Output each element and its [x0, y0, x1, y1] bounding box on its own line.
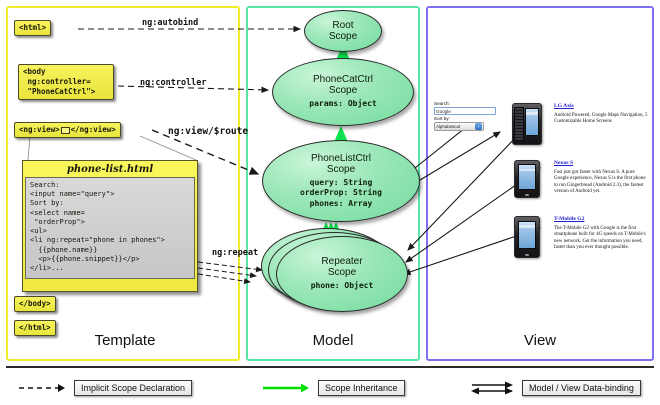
edge-label-autobind: ng:autobind: [142, 18, 198, 28]
edge-label-controller: ng:controller: [140, 78, 207, 88]
search-widget: Search: Google Sort by: Alphabetical ↕: [434, 101, 500, 131]
phone-name-link[interactable]: T-Mobile G2: [554, 216, 650, 223]
phone-list-note: phone-list.html Search: <input name="que…: [22, 160, 198, 292]
list-item: LG Axis Android Powered, Google Maps Nav…: [554, 103, 650, 126]
edge-label-ngview-route: ng:view/$route: [168, 126, 248, 137]
phonelistctrl-scope-node: PhoneListCtrl Scope query: String orderP…: [262, 140, 420, 222]
phone-snippet: The T-Mobile G2 with Google is the first…: [554, 226, 650, 252]
dashed-arrow-icon: [18, 383, 66, 393]
note-code: Search: <input name="query"> Sort by: <s…: [25, 177, 195, 279]
legend-item-data-binding: Model / View Data-binding: [470, 380, 641, 396]
root-scope-title-l1: Root: [332, 20, 353, 31]
repeater-scope-title: Repeater Scope: [321, 256, 362, 278]
phone-name-link[interactable]: LG Axis: [554, 103, 650, 110]
body-close-tag: </body>: [14, 296, 56, 312]
html-close-tag: </html>: [14, 320, 56, 336]
phonelistctrl-title-l1: PhoneListCtrl: [311, 153, 371, 164]
phone-screen: [525, 108, 540, 137]
legend-label-inheritance: Scope Inheritance: [318, 380, 405, 396]
phone-snippet: Android Powered, Google Maps Navigation,…: [554, 113, 650, 126]
root-scope-title: Root Scope: [329, 20, 357, 42]
legend-label-databinding: Model / View Data-binding: [522, 380, 641, 396]
list-item: Nexus S Fast just got faster with Nexus …: [554, 160, 650, 196]
edge-label-ngrepeat: ng:repeat: [212, 248, 258, 258]
double-arrow-icon: [470, 381, 514, 395]
search-input[interactable]: Google: [434, 107, 496, 115]
legend-item-scope-inheritance: Scope Inheritance: [262, 380, 405, 396]
phonecatctrl-title-l1: PhoneCatCtrl: [313, 74, 373, 85]
chevron-updown-icon: ↕: [475, 123, 482, 130]
legend-divider: [6, 366, 654, 368]
phonelistctrl-scope-title: PhoneListCtrl Scope: [311, 153, 371, 175]
root-scope-node: Root Scope: [304, 10, 382, 52]
view-column-label: View: [470, 332, 610, 349]
phonecatctrl-title-l2: Scope: [329, 85, 357, 96]
phone-snippet: Fast just got faster with Nexus S. A pur…: [554, 170, 650, 196]
phone-body: [512, 103, 542, 145]
phonecatctrl-scope-title: PhoneCatCtrl Scope: [313, 74, 373, 96]
phone-keyboard-icon: [514, 107, 524, 141]
phone-home-button-icon: [525, 254, 530, 256]
phonecatctrl-scope-node: PhoneCatCtrl Scope params: Object: [272, 58, 414, 126]
phone-name-link[interactable]: Nexus S: [554, 160, 650, 167]
phonelistctrl-title-l2: Scope: [327, 164, 355, 175]
repeater-scope-node: Repeater Scope phone: Object: [276, 236, 408, 312]
legend-label-implicit: Implicit Scope Declaration: [74, 380, 192, 396]
phonecatctrl-scope-props: params: Object: [309, 99, 376, 109]
phone-thumbnail-nexus-s: [514, 160, 540, 198]
legend-item-implicit-scope: Implicit Scope Declaration: [18, 380, 192, 396]
sort-select[interactable]: Alphabetical ↕: [434, 122, 484, 131]
phone-body: [514, 216, 540, 258]
list-item: T-Mobile G2 The T-Mobile G2 with Google …: [554, 216, 650, 252]
phonelistctrl-scope-props: query: String orderProp: String phones: …: [300, 178, 382, 209]
root-scope-title-l2: Scope: [329, 31, 357, 42]
phone-screen: [518, 221, 537, 250]
sort-label: Sort by:: [434, 116, 500, 122]
body-open-tag: <body ng:controller= "PhoneCatCtrl">: [18, 64, 114, 100]
ngview-open-label: <ng:view>: [19, 125, 60, 134]
search-label: Search:: [434, 101, 500, 107]
diagram-canvas: <html> <body ng:controller= "PhoneCatCtr…: [0, 0, 660, 405]
ngview-tag: <ng:view></ng:view>: [14, 122, 121, 138]
model-column-label: Model: [258, 332, 408, 349]
repeater-title-l1: Repeater: [321, 256, 362, 267]
green-arrow-icon: [262, 383, 310, 393]
repeater-title-l2: Scope: [328, 267, 356, 278]
phone-home-button-icon: [525, 194, 530, 196]
template-column-label: Template: [60, 332, 190, 349]
phone-screen: [518, 164, 537, 190]
phone-body: [514, 160, 540, 198]
ngview-slot-icon: [61, 127, 70, 134]
sort-select-value: Alphabetical: [436, 122, 460, 131]
phone-thumbnail-lg-axis: [512, 103, 542, 145]
html-open-tag: <html>: [14, 20, 51, 36]
note-title: phone-list.html: [23, 161, 197, 177]
ngview-close-label: </ng:view>: [71, 125, 116, 134]
phone-thumbnail-tmobile-g2: [514, 216, 540, 258]
repeater-scope-props: phone: Object: [311, 281, 374, 291]
